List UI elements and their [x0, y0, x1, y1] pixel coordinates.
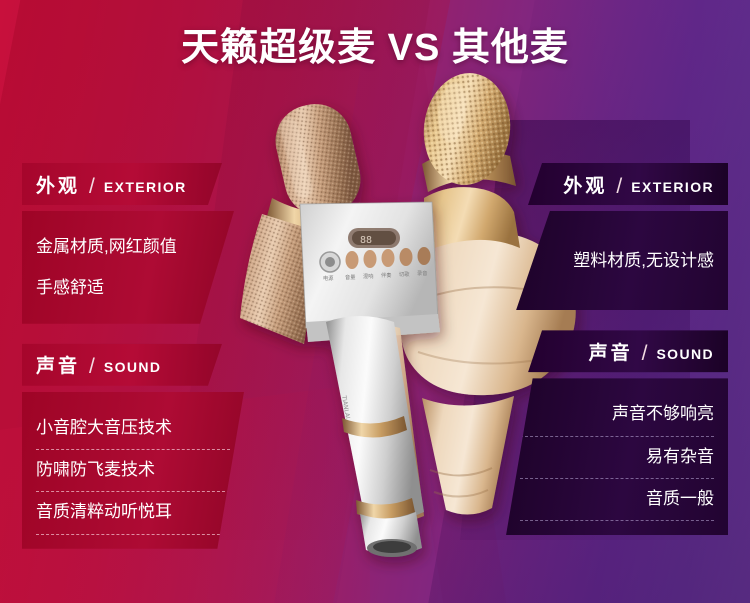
left-section-0-heading-en: EXTERIOR	[104, 179, 187, 195]
left-section-1-heading-cn: 声音	[36, 351, 80, 378]
left-section-0-heading-slash: /	[89, 175, 95, 199]
left-column-gap	[22, 324, 222, 344]
right-section-1-header: 声音 / SOUND	[528, 330, 728, 372]
right-sound-row-1: 易有杂音	[520, 437, 714, 479]
right-section-1-body: 声音不够响亮 易有杂音 音质一般	[506, 378, 728, 535]
left-section-0-header: 外观 / EXTERIOR	[22, 163, 222, 205]
left-section-1-header: 声音 / SOUND	[22, 344, 222, 386]
right-section-0-heading-cn: 外观	[563, 171, 607, 198]
right-column-gap	[528, 310, 728, 330]
page-title: 天籁超级麦 VS 其他麦	[0, 16, 750, 71]
left-sound-row-2: 音质清粹动听悦耳	[36, 492, 230, 534]
tianlai-microphone: 88 电源 音量 混响 伴奏 切歌 录音	[240, 97, 451, 557]
left-section-0-heading-cn: 外观	[36, 171, 80, 198]
right-exterior-row-0: 塑料材质,无设计感	[530, 241, 714, 282]
left-section-0-body: 金属材质,网红颜值 手感舒适	[22, 211, 234, 324]
left-sound-row-0: 小音腔大音压技术	[36, 408, 230, 450]
left-sound-row-1: 防啸防飞麦技术	[36, 450, 230, 492]
left-section-1-body: 小音腔大音压技术 防啸防飞麦技术 音质清粹动听悦耳	[22, 392, 244, 549]
right-comparison-column: 外观 / EXTERIOR 塑料材质,无设计感 声音 / SOUND 声音不够响…	[528, 163, 728, 535]
right-section-0-heading-slash: /	[616, 175, 622, 199]
left-comparison-column: 外观 / EXTERIOR 金属材质,网红颜值 手感舒适 声音 / SOUND …	[22, 163, 222, 549]
svg-text:混响: 混响	[363, 272, 373, 280]
left-exterior-row-1: 手感舒适	[36, 268, 220, 309]
comparison-poster: 天籁超级麦 VS 其他麦	[0, 0, 750, 603]
right-section-0-heading-en: EXTERIOR	[631, 179, 714, 195]
left-exterior-row-0: 金属材质,网红颜值	[36, 227, 220, 268]
right-section-1-heading-cn: 声音	[589, 338, 633, 365]
right-section-0-body: 塑料材质,无设计感	[516, 211, 728, 310]
right-sound-row-0: 声音不够响亮	[520, 394, 714, 436]
right-section-0-header: 外观 / EXTERIOR	[528, 163, 728, 205]
left-section-1-heading-en: SOUND	[104, 359, 162, 375]
svg-text:音量: 音量	[345, 273, 355, 281]
svg-text:电源: 电源	[323, 274, 334, 282]
svg-text:伴奏: 伴奏	[381, 271, 392, 279]
right-section-1-heading-en: SOUND	[656, 346, 714, 362]
right-sound-row-2: 音质一般	[520, 479, 714, 521]
svg-text:88: 88	[360, 235, 372, 246]
left-section-1-heading-slash: /	[89, 355, 95, 379]
right-section-1-heading-slash: /	[642, 342, 648, 366]
